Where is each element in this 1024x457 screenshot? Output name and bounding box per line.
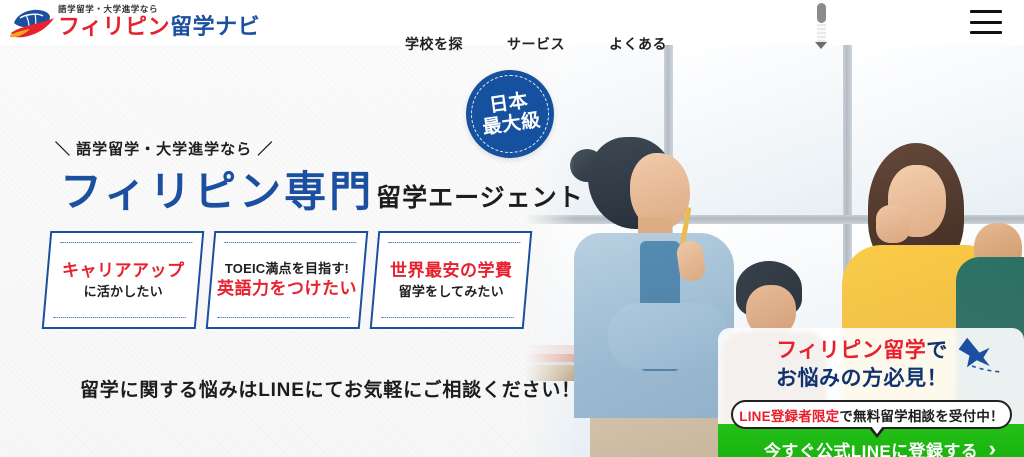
line-promo-heading-line1: フィリピン留学で (718, 337, 1006, 365)
feature-card-english[interactable]: TOEIC満点を目指す! 英語力をつけたい (206, 231, 369, 329)
feature-card-list: キャリアアップ に活かしたい TOEIC満点を目指す! 英語力をつけたい 世界最… (46, 231, 528, 329)
logo-title-blue: 留学ナビ (170, 14, 260, 39)
line-promo-panel: フィリピン留学で お悩みの方必見！ 今すぐ公式LINEに登録する › LINE登… (718, 328, 1024, 457)
badge-line-2: 最大級 (481, 110, 542, 139)
line-limited-badge: LINE登録者限定で無料留学相談を受付中！ (731, 400, 1012, 429)
line-promo-heading-line2: お悩みの方必見！ (718, 365, 1006, 393)
scroll-down-arrow-icon[interactable] (815, 42, 827, 49)
feature-card-english-sub: TOEIC満点を目指す! (217, 260, 357, 278)
hero-eyebrow: ＼ 語学留学・大学進学なら ／ (55, 138, 273, 159)
line-limited-badge-red: LINE登録者限定 (739, 405, 839, 425)
speech-bubble-tail-inner (871, 426, 883, 434)
feature-card-tuition[interactable]: 世界最安の学費 留学をしてみたい (370, 231, 533, 329)
feature-card-tuition-headline: 世界最安の学費 (390, 260, 513, 283)
badge-label: 日本 最大級 (478, 89, 542, 139)
logo-title: フィリピン留学ナビ (58, 16, 260, 38)
line-consultation-note: 留学に関する悩みはLINEにてお気軽にご相談ください！ (80, 375, 581, 402)
feature-card-tuition-sub: 留学をしてみたい (390, 283, 513, 301)
badge-line-1: 日本 (478, 89, 539, 118)
scrollbar[interactable] (812, 2, 830, 52)
swoosh-logo-icon (10, 6, 56, 40)
line-limited-badge-dark: で無料留学相談を受付中！ (839, 405, 1003, 425)
scrollbar-track[interactable] (817, 24, 826, 42)
scrollbar-thumb[interactable] (817, 3, 826, 23)
line-promo-heading: フィリピン留学で お悩みの方必見！ (718, 337, 1006, 392)
page-title: フィリピン専門 留学エージェント (60, 171, 584, 213)
nav-school-search[interactable]: 学校を探 (405, 34, 463, 54)
feature-card-career-sub: に活かしたい (62, 283, 185, 301)
japan-largest-badge: 日本 最大級 (466, 70, 554, 158)
feature-card-career-headline: キャリアアップ (62, 260, 185, 283)
line-promo-heading-red: フィリピン留学 (776, 339, 926, 362)
main-navigation: 学校を探 サービス よくある (405, 34, 667, 54)
hamburger-bar (970, 10, 1002, 13)
hamburger-menu-icon[interactable] (970, 10, 1002, 34)
hamburger-bar (970, 31, 1002, 34)
chevron-right-icon: › (989, 438, 996, 457)
line-register-button-label: 今すぐ公式LINEに登録する (764, 437, 978, 457)
hero-landing-page: 語学留学・大学進学なら フィリピン留学ナビ 学校を探 サービス よくある (0, 0, 1024, 457)
nav-faq[interactable]: よくある (609, 34, 667, 54)
site-header: 語学留学・大学進学なら フィリピン留学ナビ 学校を探 サービス よくある (0, 0, 1024, 45)
site-logo[interactable]: 語学留学・大学進学なら フィリピン留学ナビ (10, 3, 260, 40)
hamburger-bar (970, 21, 1002, 24)
feature-card-career[interactable]: キャリアアップ に活かしたい (42, 231, 205, 329)
headline-sub: 留学エージェント (376, 186, 584, 211)
nav-services[interactable]: サービス (507, 34, 565, 54)
feature-card-english-headline: 英語力をつけたい (217, 277, 357, 300)
logo-title-red: フィリピン (58, 14, 170, 39)
headline-main: フィリピン専門 (60, 171, 374, 213)
line-promo-heading-tail: で (926, 339, 948, 362)
hero-section: 日本 最大級 ＼ 語学留学・大学進学なら ／ フィリピン専門 留学エージェント … (0, 45, 1024, 457)
